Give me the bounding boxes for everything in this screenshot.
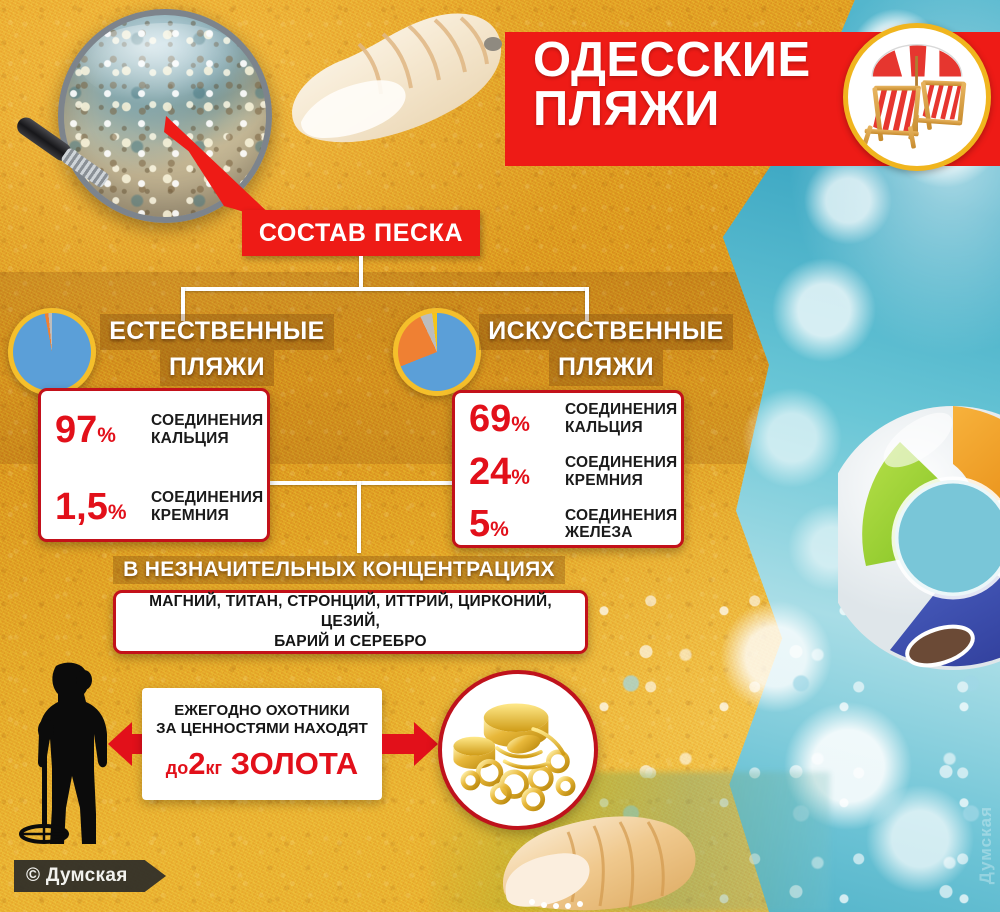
stats-card-artificial: 69% СОЕДИНЕНИЯ КАЛЬЦИЯ 24% СОЕДИНЕНИЯ КР… <box>452 390 684 548</box>
magnifying-glass-icon <box>58 9 272 223</box>
heading-artificial-line-1: ИСКУССТВЕННЫЕ <box>479 314 732 350</box>
table-row: 69% СОЕДИНЕНИЯ КАЛЬЦИЯ <box>455 393 681 446</box>
stat-number: 5 <box>469 503 490 545</box>
page-title: ОДЕССКИЕ ПЛЯЖИ <box>533 36 863 133</box>
arrow-right-icon <box>382 719 438 769</box>
stat-label: СОЕДИНЕНИЯ КРЕМНИЯ <box>151 489 263 525</box>
stat-label: СОЕДИНЕНИЯ КАЛЬЦИЯ <box>565 401 677 437</box>
pie-chart-natural <box>8 308 96 396</box>
connector-stem <box>359 256 363 288</box>
connector-bracket-horizontal <box>181 287 589 291</box>
gold-lead-text: ЕЖЕГОДНО ОХОТНИКИ ЗА ЦЕННОСТЯМИ НАХОДЯТ <box>142 688 382 739</box>
connector-tee-vertical <box>357 481 361 553</box>
stat-number: 24 <box>469 451 511 493</box>
beach-chairs-umbrella-icon <box>843 23 991 171</box>
percent-sign: % <box>108 501 127 524</box>
watermark-side-text: Думская <box>976 806 996 884</box>
gold-amount-prefix: до <box>166 758 188 778</box>
stat-value: 5% <box>469 505 555 543</box>
stats-card-natural: 97% СОЕДИНЕНИЯ КАЛЬЦИЯ 1,5% СОЕДИНЕНИЯ К… <box>38 388 270 542</box>
title-line-2: ПЛЯЖИ <box>533 85 863 134</box>
stat-value: 1,5% <box>55 488 141 526</box>
stat-label: СОЕДИНЕНИЯ КАЛЬЦИЯ <box>151 412 263 448</box>
section-heading-natural: ЕСТЕСТВЕННЫЕ ПЛЯЖИ <box>86 314 348 386</box>
watermark-logo-text: © Думская <box>14 865 128 887</box>
pie-chart-artificial <box>393 308 481 396</box>
table-row: 97% СОЕДИНЕНИЯ КАЛЬЦИЯ <box>41 391 267 468</box>
trace-heading: В НЕЗНАЧИТЕЛЬНЫХ КОНЦЕНТРАЦИЯХ <box>104 556 574 584</box>
title-line-1: ОДЕССКИЕ <box>533 36 863 85</box>
percent-sign: % <box>490 518 509 541</box>
table-row: 5% СОЕДИНЕНИЯ ЖЕЛЕЗА <box>455 498 681 551</box>
table-row: 24% СОЕДИНЕНИЯ КРЕМНИЯ <box>455 446 681 499</box>
stat-value: 24% <box>469 453 555 491</box>
stat-label: СОЕДИНЕНИЯ ЖЕЛЕЗА <box>565 507 677 543</box>
heading-artificial-line-2: ПЛЯЖИ <box>549 350 663 386</box>
gold-finds-card: ЕЖЕГОДНО ОХОТНИКИ ЗА ЦЕННОСТЯМИ НАХОДЯТ … <box>142 688 382 800</box>
heading-natural-line-2: ПЛЯЖИ <box>160 350 274 386</box>
percent-sign: % <box>511 413 530 436</box>
trace-heading-text: В НЕЗНАЧИТЕЛЬНЫХ КОНЦЕНТРАЦИЯХ <box>113 556 565 584</box>
table-row: 1,5% СОЕДИНЕНИЯ КРЕМНИЯ <box>41 468 267 545</box>
heading-natural-line-1: ЕСТЕСТВЕННЫЕ <box>100 314 334 350</box>
trace-elements-card: МАГНИЙ, ТИТАН, СТРОНЦИЙ, ИТТРИЙ, ЦИРКОНИ… <box>113 590 588 654</box>
infographic-canvas: ОДЕССКИЕ ПЛЯЖИ <box>0 0 1000 912</box>
watermark-logo: © Думская <box>14 860 166 892</box>
sand-composition-label: СОСТАВ ПЕСКА <box>242 210 480 256</box>
gold-amount: до2кг ЗОЛОТА <box>142 748 382 779</box>
gold-amount-noun: ЗОЛОТА <box>231 746 359 781</box>
trace-elements-list: МАГНИЙ, ТИТАН, СТРОНЦИЙ, ИТТРИЙ, ЦИРКОНИ… <box>116 592 585 652</box>
stat-number: 69 <box>469 398 511 440</box>
swim-ring-icon <box>838 378 1000 678</box>
section-heading-artificial: ИСКУССТВЕННЫЕ ПЛЯЖИ <box>470 314 742 386</box>
connector-tee-horizontal <box>270 481 470 485</box>
gold-amount-value: 2 <box>188 746 205 781</box>
seashell-icon <box>285 2 510 152</box>
sand-composition-text: СОСТАВ ПЕСКА <box>242 210 480 256</box>
stat-number: 97 <box>55 409 97 451</box>
stat-number: 1,5 <box>55 486 108 528</box>
stat-label: СОЕДИНЕНИЯ КРЕМНИЯ <box>565 454 677 490</box>
percent-sign: % <box>97 424 116 447</box>
gold-amount-unit: кг <box>205 758 222 778</box>
seashell-icon <box>498 806 758 912</box>
percent-sign: % <box>511 466 530 489</box>
stat-value: 97% <box>55 411 141 449</box>
stat-value: 69% <box>469 400 555 438</box>
